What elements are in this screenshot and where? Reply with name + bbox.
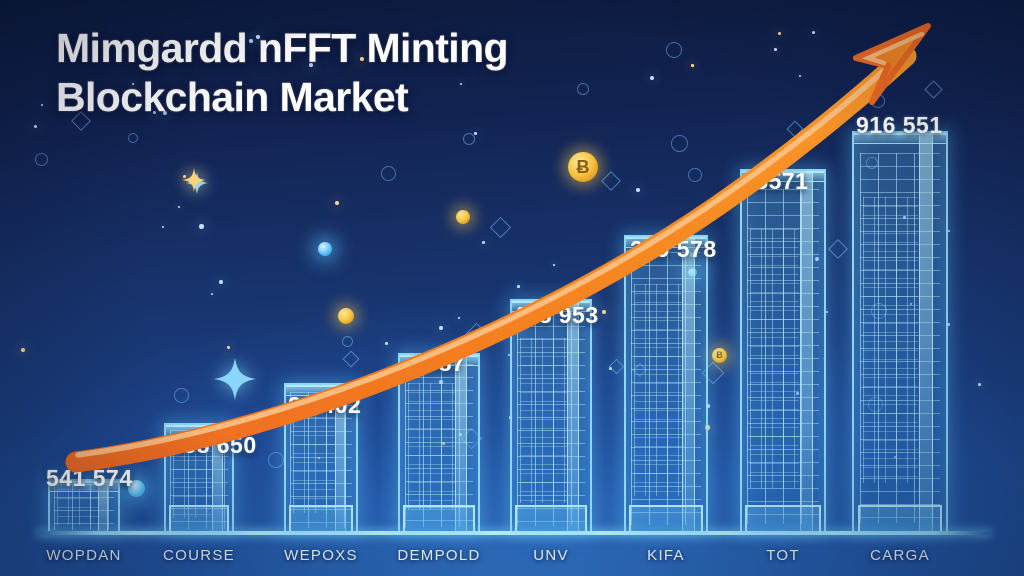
- bar-value-label: 35571: [742, 168, 808, 195]
- bar-window-grid-detail: [293, 408, 335, 513]
- x-axis-label-wopdan: WOPDAN: [26, 547, 142, 564]
- x-axis-label-tot: TOT: [718, 547, 848, 564]
- bar-value-label: 541 574: [46, 465, 133, 492]
- bar-carga[interactable]: [852, 131, 948, 531]
- x-axis-label-kifa: KIFA: [602, 547, 730, 564]
- x-axis-label-unv: UNV: [488, 547, 614, 564]
- x-axis-label-course: COURSE: [142, 547, 256, 564]
- bar-core-strip: [567, 301, 579, 531]
- bar-window-grid-detail: [634, 284, 682, 496]
- bar-core-strip: [919, 133, 933, 531]
- bar-unv[interactable]: [510, 299, 592, 531]
- bar-value-label: 24.402: [288, 392, 361, 419]
- bar-podium: [629, 505, 703, 531]
- bar-podium: [403, 505, 475, 531]
- bar-value-label: 1087: [412, 350, 465, 377]
- bar-window-grid-detail: [750, 229, 799, 488]
- bar-dempold[interactable]: [398, 353, 480, 531]
- page-title: Mimgardd nFFT Minting Blockchain Market: [56, 24, 508, 122]
- chart-baseline: [38, 531, 990, 535]
- bar-kifa[interactable]: [624, 235, 708, 531]
- bar-core-strip: [682, 237, 694, 531]
- x-axis-label-dempold: DEMPOLD: [376, 547, 502, 564]
- x-axis-label-carga: CARGA: [830, 547, 970, 564]
- bar-window-grid-detail: [408, 383, 455, 510]
- bar-podium: [858, 505, 943, 531]
- bar-tot[interactable]: [740, 169, 826, 531]
- infographic-canvas: ɃɃ 541 574WOPDAN558 650COURSE24.402WEPOX…: [0, 0, 1024, 576]
- bar-value-label: 408 953: [512, 302, 599, 329]
- bar-podium: [289, 505, 353, 531]
- bar-core-strip: [800, 171, 813, 531]
- x-axis-label-wepoxs: WEPOXS: [262, 547, 380, 564]
- bar-window-grid-detail: [520, 338, 567, 504]
- bar-podium: [169, 505, 230, 531]
- bar-window-grid-detail: [863, 197, 918, 484]
- bar-podium: [745, 505, 820, 531]
- bar-value-label: 916 551: [856, 112, 943, 139]
- bar-value-label: 558 650: [170, 432, 257, 459]
- bar-podium: [515, 505, 587, 531]
- bar-window-grid-detail: [57, 489, 98, 525]
- bar-value-label: 239 578: [630, 236, 717, 263]
